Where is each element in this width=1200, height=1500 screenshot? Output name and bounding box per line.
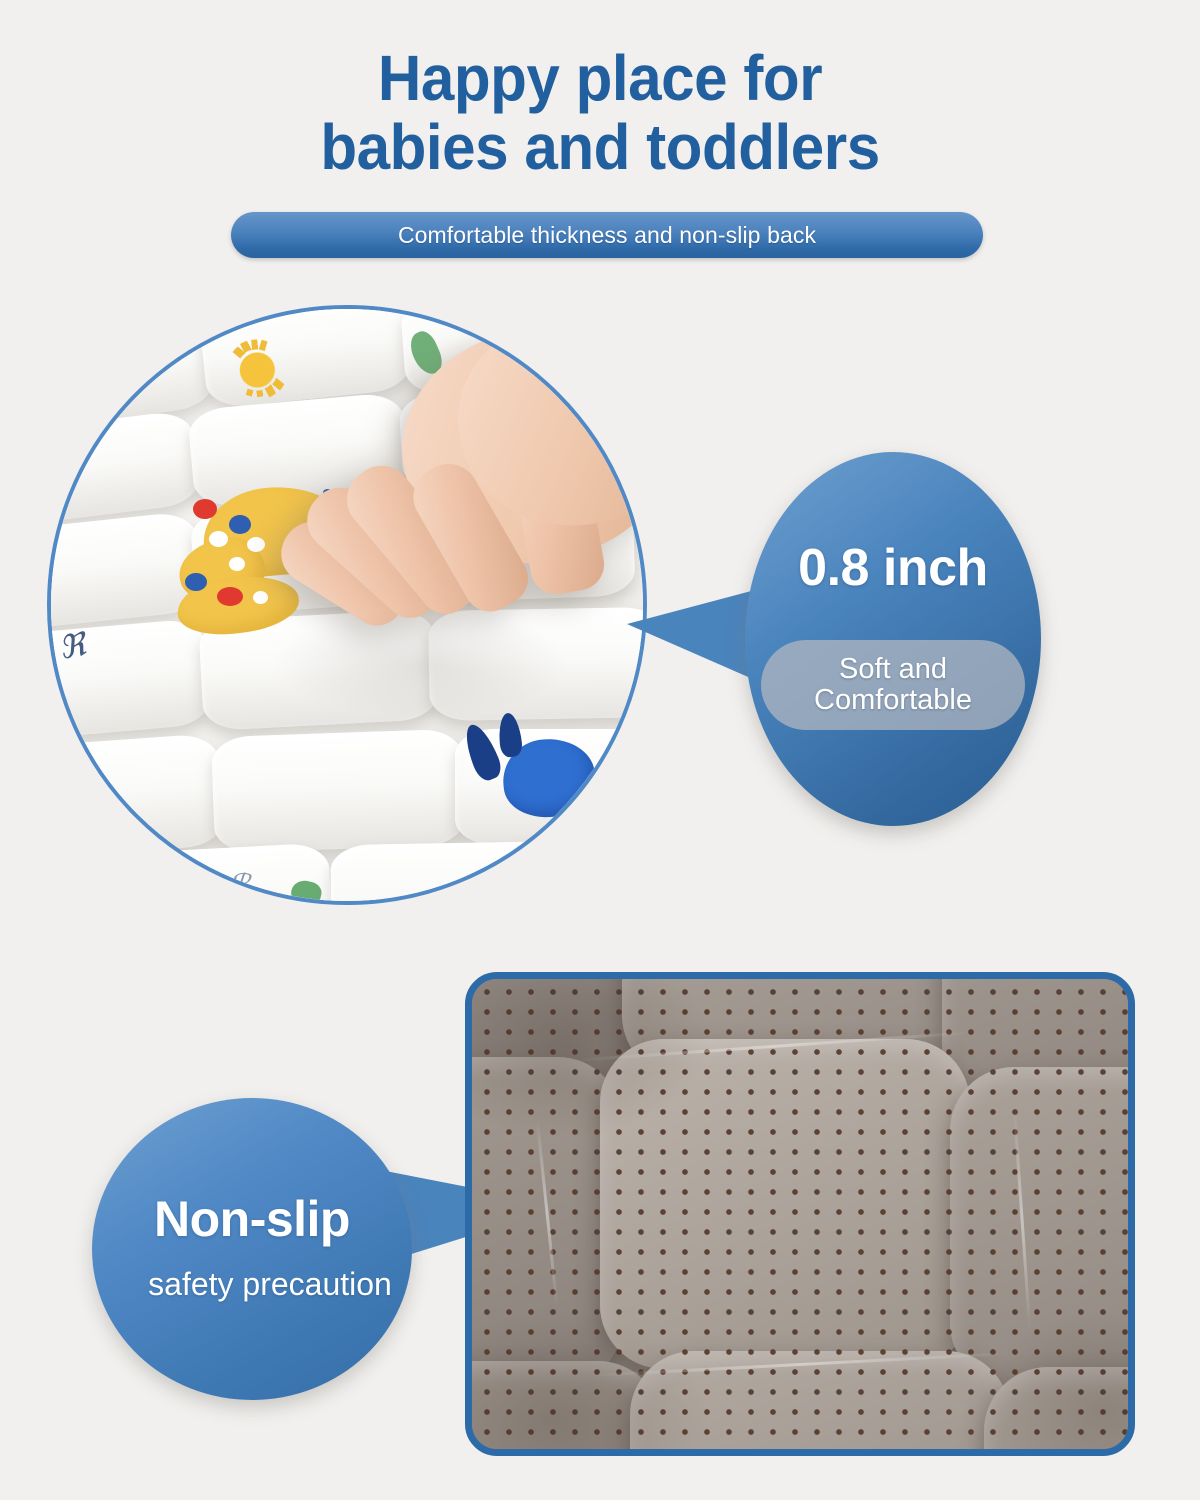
thickness-callout-badge: 0.8 inch Soft and Comfortable (745, 452, 1041, 826)
doodle-print-art: ℛ (228, 868, 251, 899)
thickness-sub-line-2: Comfortable (814, 685, 972, 716)
subtitle-bar: Comfortable thickness and non-slip back (231, 212, 983, 258)
header: Happy place for babies and toddlers (0, 0, 1200, 182)
print-dot (229, 515, 251, 534)
press-shadow (271, 609, 571, 719)
quilt-puff (47, 733, 225, 861)
print-dot (229, 557, 245, 571)
print-dot (217, 587, 243, 606)
subtitle-text: Comfortable thickness and non-slip back (398, 222, 816, 249)
page-title: Happy place for babies and toddlers (36, 0, 1164, 182)
page-title-line-1: Happy place for (36, 44, 1164, 113)
nonslip-backing-photo (465, 972, 1135, 1456)
callout-pointer-icon (627, 590, 755, 680)
backing-scene (472, 979, 1128, 1449)
callout-bubble (745, 452, 1041, 826)
nonslip-subtitle: safety precaution (70, 1266, 470, 1303)
nonslip-callout-badge: Non-slip safety precaution (92, 1098, 412, 1400)
thickness-sub-line-1: Soft and (839, 654, 947, 685)
quilt-puff (330, 841, 592, 905)
thickness-value: 0.8 inch (745, 538, 1041, 598)
panel-shadow (972, 1309, 1135, 1456)
page-title-line-2: babies and toddlers (36, 113, 1164, 182)
callout-bubble (92, 1098, 412, 1400)
thickness-sub-pill: Soft and Comfortable (761, 640, 1025, 730)
mattress-surface-photo: ℜ ℳ ℛ (47, 305, 647, 905)
print-dot (193, 499, 217, 519)
print-dot (185, 573, 207, 591)
print-dot (247, 537, 265, 552)
quilt-puff (211, 729, 465, 854)
mattress-scene: ℜ ℳ ℛ (51, 309, 643, 901)
subtitle-banner: Comfortable thickness and non-slip back (231, 212, 983, 258)
quilt-puff (47, 409, 202, 526)
sun-print-art (216, 333, 298, 401)
panel-shadow (465, 1309, 712, 1456)
quilt-puff (47, 314, 216, 433)
nonslip-title: Non-slip (92, 1190, 412, 1248)
print-dot (209, 531, 228, 547)
print-dot (253, 591, 268, 604)
panel-shadow (465, 972, 712, 1139)
